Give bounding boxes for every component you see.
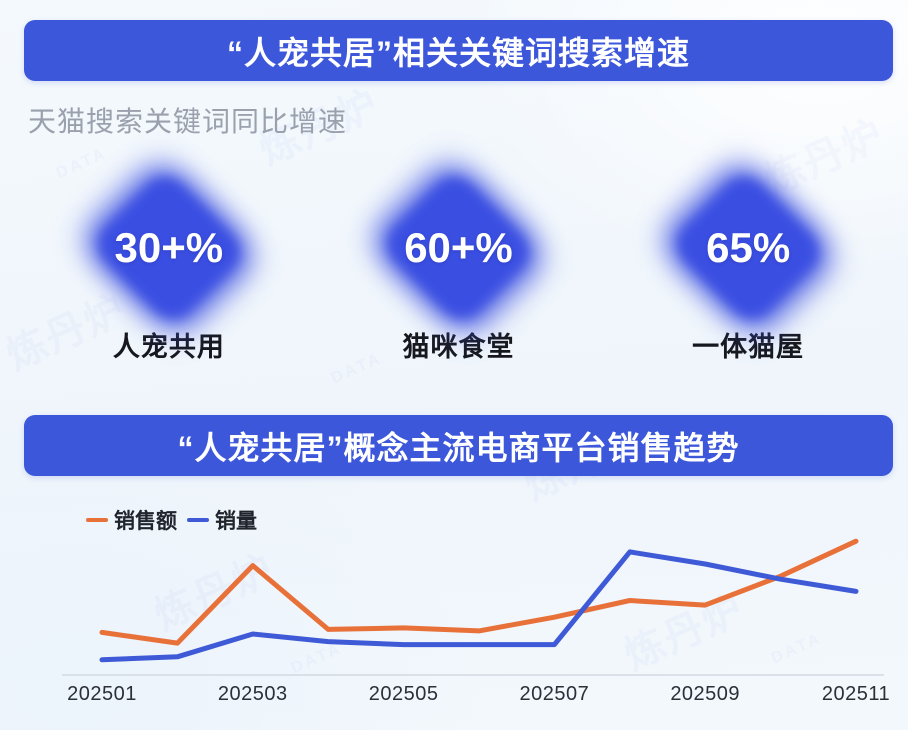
chart-x-axis-labels: 202501202503202505202507202509202511: [0, 683, 908, 723]
x-tick-label-5: 202509: [670, 683, 740, 706]
kpi-value-3: 65%: [706, 224, 790, 272]
kpi-diamond-shape-3: 65%: [648, 160, 848, 335]
kpi-diamond-shape-1: 30+%: [69, 160, 269, 335]
kpi-value-1: 30+%: [115, 224, 224, 272]
x-tick-label-6: 202511: [822, 683, 890, 706]
chart-banner-sales-trend: “人宠共居”概念主流电商平台销售趋势: [24, 415, 893, 476]
kpi-badge-row: 30+%人宠共用60+%猫咪食堂65%一体猫屋: [24, 160, 893, 370]
header-banner-title: “人宠共居”相关关键词搜索增速: [227, 28, 690, 74]
kpi-badge-3: 65%一体猫屋: [623, 160, 873, 364]
subtitle-tmall-search-yoy: 天猫搜索关键词同比增速: [28, 100, 347, 140]
x-tick-label-3: 202505: [369, 683, 439, 706]
kpi-badge-2: 60+%猫咪食堂: [333, 160, 583, 364]
kpi-value-2: 60+%: [404, 224, 513, 272]
x-tick-label-4: 202507: [520, 683, 590, 706]
x-tick-label-2: 202503: [218, 683, 288, 706]
x-tick-label-1: 202501: [67, 683, 137, 706]
sales-trend-chart: 销售额销量 2025012025032025052025072025092025…: [0, 495, 908, 730]
kpi-diamond-shape-2: 60+%: [358, 160, 558, 335]
chart-banner-title: “人宠共居”概念主流电商平台销售趋势: [177, 423, 739, 469]
series-line-1: [102, 541, 856, 643]
header-banner-search-growth: “人宠共居”相关关键词搜索增速: [24, 20, 893, 81]
kpi-badge-1: 30+%人宠共用: [44, 160, 294, 364]
